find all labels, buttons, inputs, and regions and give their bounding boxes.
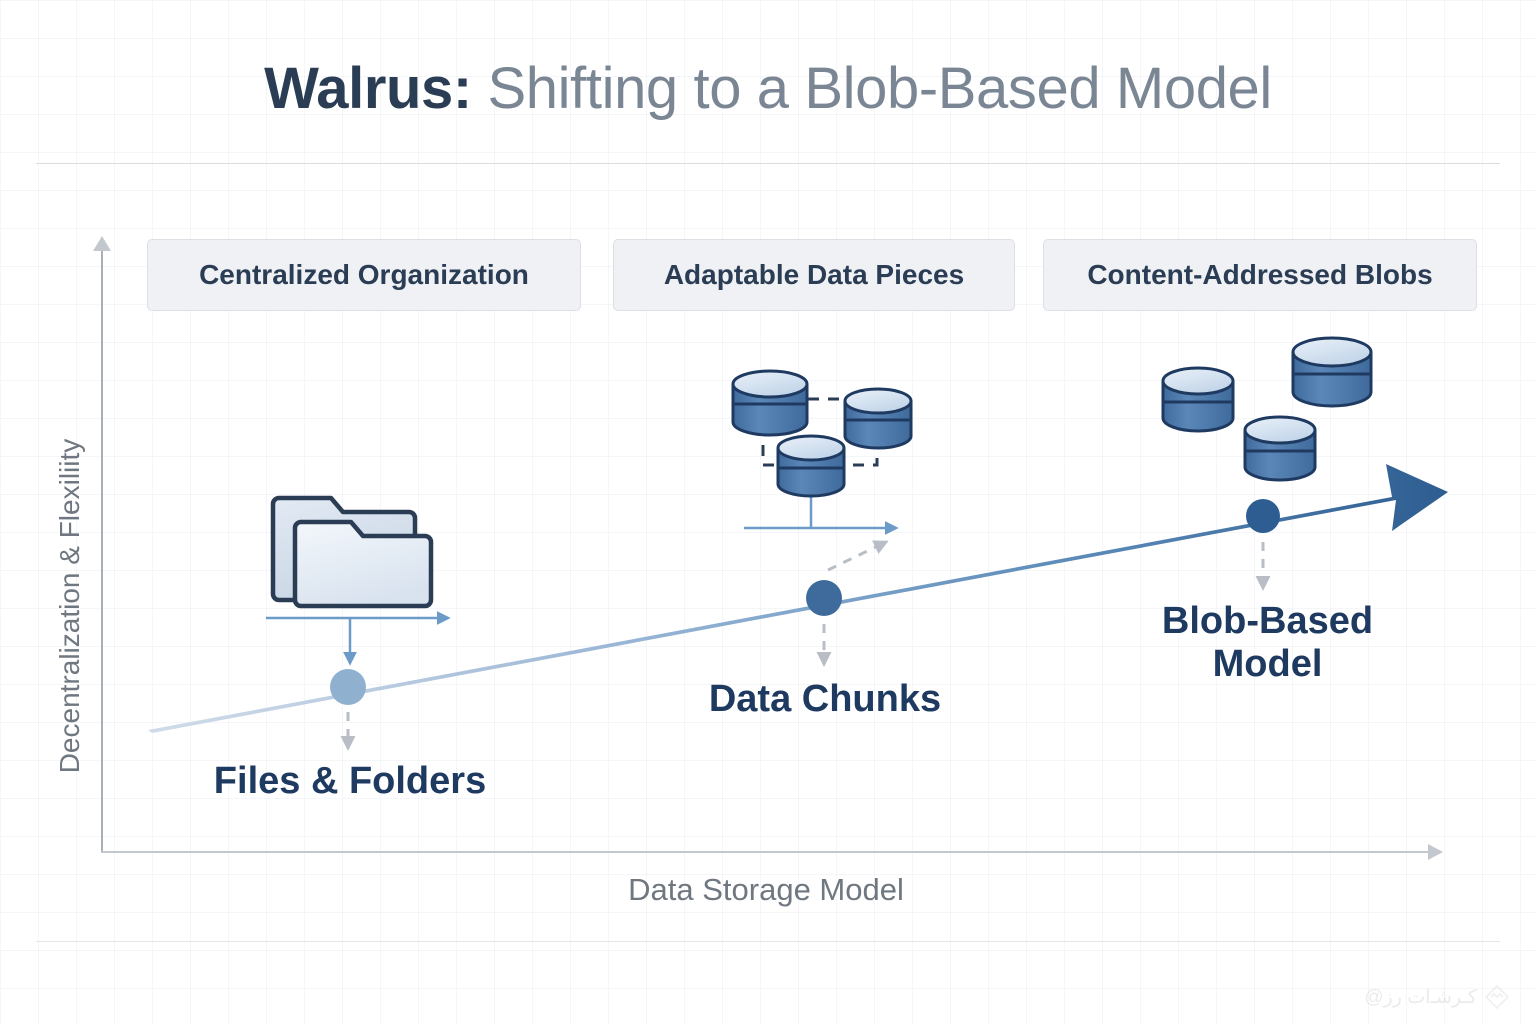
trend-arrow-diagram [0, 0, 1536, 1024]
folders-icon [273, 498, 431, 606]
milestone-label-files-folders: Files & Folders [145, 760, 555, 803]
milestone-node-2 [806, 580, 842, 616]
background-grid [0, 0, 1536, 1024]
title-subtitle: Shifting to a Blob-Based Model [472, 56, 1272, 121]
database-icon-c [778, 436, 844, 496]
y-axis-arrow-icon [93, 236, 111, 251]
milestone-label-text: Files & Folders [214, 760, 486, 802]
milestone-node-1 [330, 669, 366, 705]
stage-header-label: Content-Addressed Blobs [1087, 259, 1432, 291]
milestone-label-blob-based-model: Blob-Based Model [1095, 600, 1440, 685]
database-dashed-links [763, 399, 877, 465]
milestone-node-3 [1246, 499, 1280, 533]
blob-icon-b [1163, 368, 1233, 431]
title-divider [36, 163, 1500, 164]
diamond-logo-icon [1484, 984, 1510, 1010]
x-axis-label: Data Storage Model [101, 872, 1431, 908]
database-icon-b [845, 389, 911, 448]
folders-connector-lines [266, 618, 448, 663]
stage-header-content-addressed-blobs[interactable]: Content-Addressed Blobs [1043, 239, 1477, 311]
stage-header-centralized-organization[interactable]: Centralized Organization [147, 239, 581, 311]
title-brand: Walrus: [264, 56, 472, 121]
page-title: Walrus: Shifting to a Blob-Based Model [0, 60, 1536, 118]
footer-divider [36, 941, 1500, 942]
x-axis-line [101, 851, 1431, 853]
blob-icon-a [1293, 338, 1371, 406]
database-icon-a [733, 371, 807, 435]
stage-header-label: Centralized Organization [199, 259, 529, 291]
watermark-text: کـرشـ‌ات رز@ [1364, 986, 1477, 1009]
milestone-label-text-line2: Model [1213, 643, 1323, 685]
y-axis-label: Decentralization & Flexiliity [54, 346, 86, 866]
blob-icon-c [1245, 417, 1315, 480]
x-axis-arrow-icon [1428, 844, 1443, 860]
milestone-label-text-line1: Blob-Based [1162, 600, 1373, 642]
databases-connector-lines [744, 486, 896, 528]
y-axis-line [101, 248, 103, 853]
stage-header-label: Adaptable Data Pieces [664, 259, 964, 291]
dashed-arrow-diagonal [828, 542, 886, 570]
stage-header-adaptable-data-pieces[interactable]: Adaptable Data Pieces [613, 239, 1015, 311]
milestone-label-data-chunks: Data Chunks [625, 678, 1025, 721]
milestone-label-text: Data Chunks [709, 678, 941, 720]
watermark: کـرشـ‌ات رز@ [1364, 984, 1510, 1010]
